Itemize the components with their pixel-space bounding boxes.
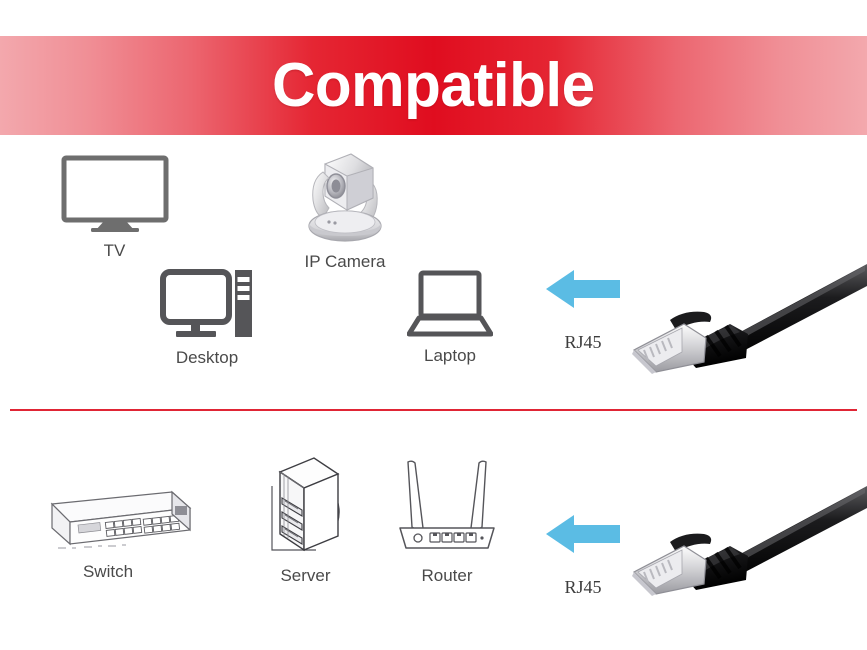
section-divider [10, 409, 857, 411]
device-server: Server [248, 452, 363, 586]
device-label: IP Camera [305, 252, 386, 272]
section-network-devices: Switch [0, 418, 867, 648]
header-banner: Compatible [0, 36, 867, 135]
device-label: Switch [83, 562, 133, 582]
device-ip-camera: IP Camera [280, 148, 410, 272]
device-label: Router [421, 566, 472, 586]
rj45-label: RJ45 [564, 332, 601, 353]
desktop-icon [160, 268, 254, 342]
page-title: Compatible [272, 55, 595, 117]
device-router: Router [382, 450, 512, 586]
device-desktop: Desktop [142, 268, 272, 368]
left-arrow-icon [544, 268, 622, 310]
section-consumer-devices: TV [0, 140, 867, 405]
device-laptop: Laptop [385, 270, 515, 366]
rj45-ethernet-cable [622, 480, 867, 605]
network-switch-icon [22, 478, 194, 556]
device-label: TV [104, 241, 126, 261]
compatibility-diagram: Compatible TV [0, 0, 867, 650]
device-label: Server [280, 566, 330, 586]
ip-camera-icon [299, 148, 391, 246]
laptop-icon [407, 270, 493, 340]
rj45-ethernet-cable [622, 258, 867, 378]
server-rack-icon [258, 452, 354, 560]
rj45-label: RJ45 [564, 577, 601, 598]
device-switch: Switch [18, 478, 198, 582]
tv-icon [61, 155, 169, 235]
router-icon [392, 450, 502, 560]
device-label: Desktop [176, 348, 238, 368]
device-tv: TV [47, 155, 182, 261]
left-arrow-icon [544, 513, 622, 555]
device-label: Laptop [424, 346, 476, 366]
